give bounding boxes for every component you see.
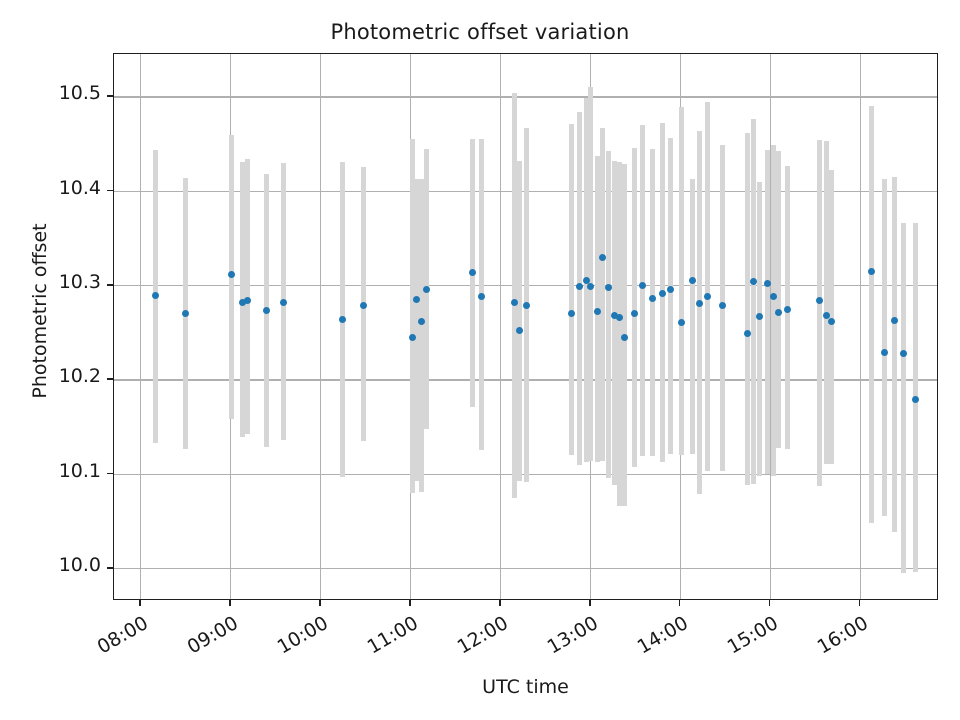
gridline-vertical — [320, 54, 321, 599]
data-point — [756, 313, 763, 320]
x-tick-label: 08:00 — [80, 612, 152, 666]
y-tick-mark — [107, 378, 113, 380]
y-tick-mark — [107, 473, 113, 475]
x-tick-label: 10:00 — [260, 612, 332, 666]
y-tick-label: 10.3 — [59, 271, 101, 293]
data-point — [413, 296, 420, 303]
x-axis-label: UTC time — [113, 676, 938, 698]
data-point — [244, 297, 251, 304]
error-bar — [679, 107, 684, 455]
data-point — [639, 282, 646, 289]
data-point — [719, 302, 726, 309]
y-tick-label: 10.5 — [59, 82, 101, 104]
x-tick-label: 11:00 — [350, 612, 422, 666]
error-bar — [650, 149, 655, 456]
x-tick-mark — [409, 600, 411, 606]
error-bar — [901, 223, 906, 573]
y-tick-mark — [107, 95, 113, 97]
x-tick-mark — [769, 600, 771, 606]
page-title: Photometric offset variation — [0, 20, 960, 44]
x-tick-label: 16:00 — [800, 612, 872, 666]
error-bar — [668, 138, 673, 454]
data-point — [182, 310, 189, 317]
x-tick-label: 13:00 — [530, 612, 602, 666]
y-tick-mark — [107, 284, 113, 286]
x-tick-label: 14:00 — [620, 612, 692, 666]
data-point — [360, 302, 367, 309]
y-tick-label: 10.0 — [59, 554, 101, 576]
gridline-horizontal — [114, 96, 937, 97]
error-bar — [690, 179, 695, 453]
data-point — [511, 299, 518, 306]
x-tick-mark — [139, 600, 141, 606]
error-bar — [765, 150, 770, 473]
x-tick-label: 09:00 — [170, 612, 242, 666]
error-bar — [869, 106, 874, 523]
data-point — [891, 317, 898, 324]
y-tick-mark — [107, 190, 113, 192]
error-bar — [569, 124, 574, 455]
error-bar — [640, 125, 645, 456]
data-point — [616, 314, 623, 321]
x-tick-mark — [229, 600, 231, 606]
error-bar — [697, 131, 702, 494]
gridline-vertical — [140, 54, 141, 599]
y-axis-label: Photometric offset — [29, 191, 51, 431]
y-tick-label: 10.2 — [59, 365, 101, 387]
error-bar — [776, 151, 781, 448]
error-bar — [517, 161, 522, 482]
data-point — [750, 278, 757, 285]
x-tick-mark — [499, 600, 501, 606]
error-bar — [612, 161, 617, 485]
x-tick-mark — [319, 600, 321, 606]
figure-canvas: Photometric offset variation 10.010.110.… — [0, 0, 960, 720]
data-point — [816, 297, 823, 304]
data-point — [576, 283, 583, 290]
y-tick-label: 10.1 — [59, 460, 101, 482]
error-bar — [757, 182, 762, 475]
x-tick-mark — [589, 600, 591, 606]
x-tick-mark — [679, 600, 681, 606]
x-tick-label: 15:00 — [710, 612, 782, 666]
gridline-vertical — [500, 54, 501, 599]
data-point — [423, 286, 430, 293]
x-tick-mark — [859, 600, 861, 606]
error-bar — [705, 102, 710, 471]
error-bar — [588, 87, 593, 461]
gridline-vertical — [860, 54, 861, 599]
gridline-horizontal — [114, 568, 937, 569]
error-bar — [512, 93, 517, 499]
error-bar — [600, 128, 605, 462]
data-point — [770, 293, 777, 300]
error-bar — [745, 133, 750, 485]
error-bar — [882, 179, 887, 516]
error-bar — [632, 148, 637, 467]
y-tick-label: 10.4 — [59, 177, 101, 199]
data-point — [280, 299, 287, 306]
y-tick-mark — [107, 567, 113, 569]
error-bar — [414, 179, 419, 481]
error-bar — [817, 140, 822, 486]
data-point — [881, 349, 888, 356]
data-point — [621, 334, 628, 341]
error-bar — [892, 177, 897, 533]
x-tick-label: 12:00 — [440, 612, 512, 666]
data-point — [900, 350, 907, 357]
data-point — [828, 318, 835, 325]
plot-area[interactable] — [113, 53, 938, 600]
data-point — [912, 396, 919, 403]
data-point — [649, 295, 656, 302]
data-point — [764, 280, 771, 287]
error-bar — [751, 119, 756, 484]
data-point — [689, 277, 696, 284]
data-point — [152, 292, 159, 299]
data-point — [744, 330, 751, 337]
data-point — [594, 308, 601, 315]
